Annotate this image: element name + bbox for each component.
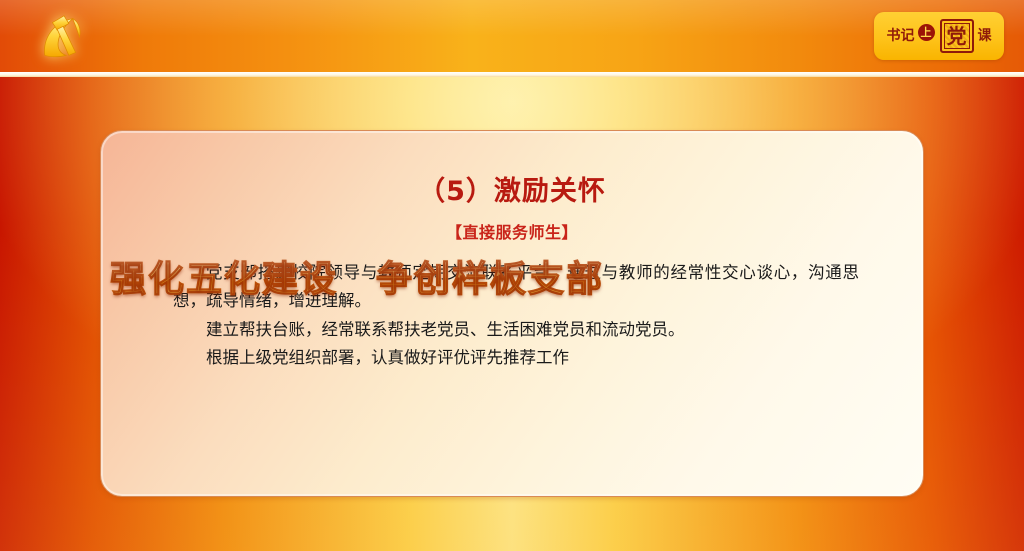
page-title: 强化五化建设 争创样板支部 bbox=[110, 250, 604, 302]
logo-text-right: 课 bbox=[978, 29, 992, 43]
logo-text-left: 书记 bbox=[887, 29, 915, 43]
logo-seal-char: 党 bbox=[947, 26, 967, 46]
logo-shang-badge-icon: 上 bbox=[918, 24, 935, 41]
header-banner bbox=[0, 0, 1024, 72]
body-paragraph: 根据上级党组织部署，认真做好评优评先推荐工作 bbox=[173, 344, 859, 372]
party-hammer-sickle-emblem-icon bbox=[33, 10, 95, 64]
content-panel: （5）激励关怀 【直接服务师生】 党支部搭建校院领导与教师定期交流联系平台，通过… bbox=[100, 130, 924, 497]
slide-root: 强化五化建设 争创样板支部 书记 上 党 课 （5）激励关怀 【直接服务师生】 … bbox=[0, 0, 1024, 551]
header-divider-line bbox=[0, 72, 1024, 77]
section-heading: （5）激励关怀 bbox=[101, 169, 923, 208]
body-paragraph: 建立帮扶台账，经常联系帮扶老党员、生活困难党员和流动党员。 bbox=[173, 316, 859, 344]
section-subheading: 【直接服务师生】 bbox=[101, 219, 923, 243]
logo-seal-icon: 党 bbox=[940, 19, 974, 53]
secretary-party-lesson-logo[interactable]: 书记 上 党 课 bbox=[874, 12, 1004, 60]
